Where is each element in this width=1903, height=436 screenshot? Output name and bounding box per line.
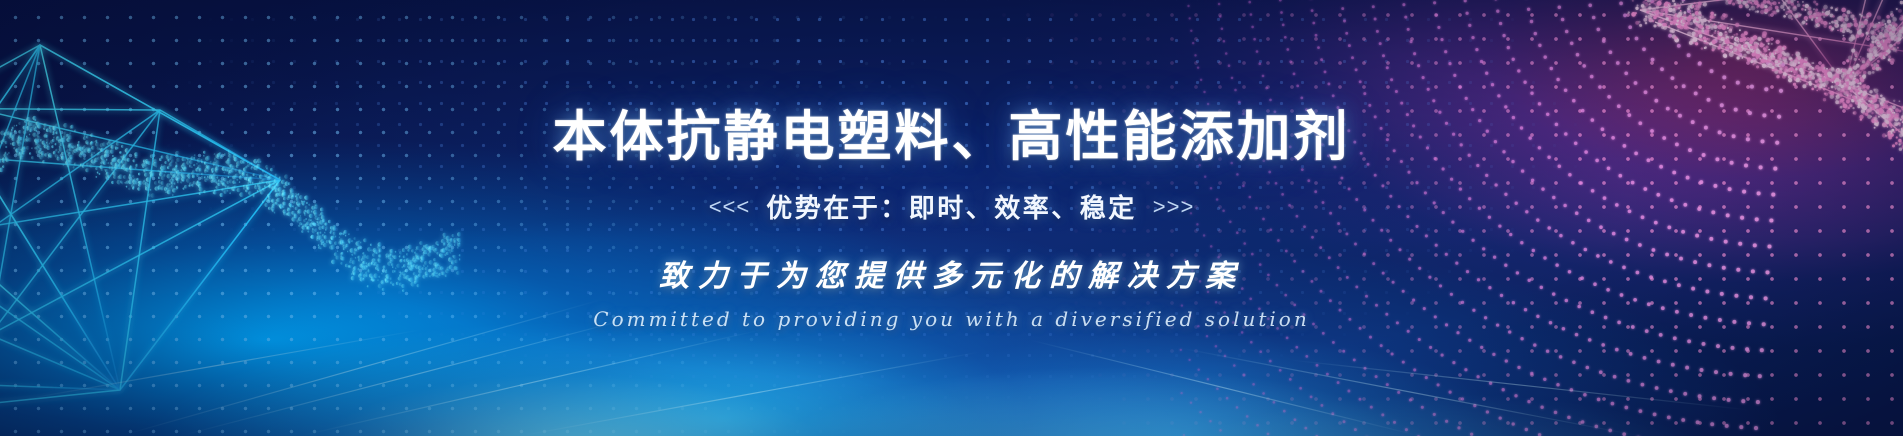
page-title: 本体抗静电塑料、高性能添加剂 bbox=[0, 108, 1903, 166]
banner-tagline-en: Committed to providing you with a divers… bbox=[0, 307, 1903, 331]
banner-tagline-cn: 致力于为您提供多元化的解决方案 bbox=[0, 251, 1903, 295]
hero-banner: 本体抗静电塑料、高性能添加剂 <<< 优势在于：即时、效率、稳定 >>> 致力于… bbox=[0, 0, 1903, 436]
banner-subtitle-text: 优势在于：即时、效率、稳定 bbox=[766, 188, 1137, 225]
right-chevrons-icon: >>> bbox=[1153, 194, 1195, 220]
banner-text-block: 本体抗静电塑料、高性能添加剂 <<< 优势在于：即时、效率、稳定 >>> 致力于… bbox=[0, 108, 1903, 331]
banner-subtitle: <<< 优势在于：即时、效率、稳定 >>> bbox=[0, 188, 1903, 225]
left-chevrons-icon: <<< bbox=[709, 194, 751, 220]
